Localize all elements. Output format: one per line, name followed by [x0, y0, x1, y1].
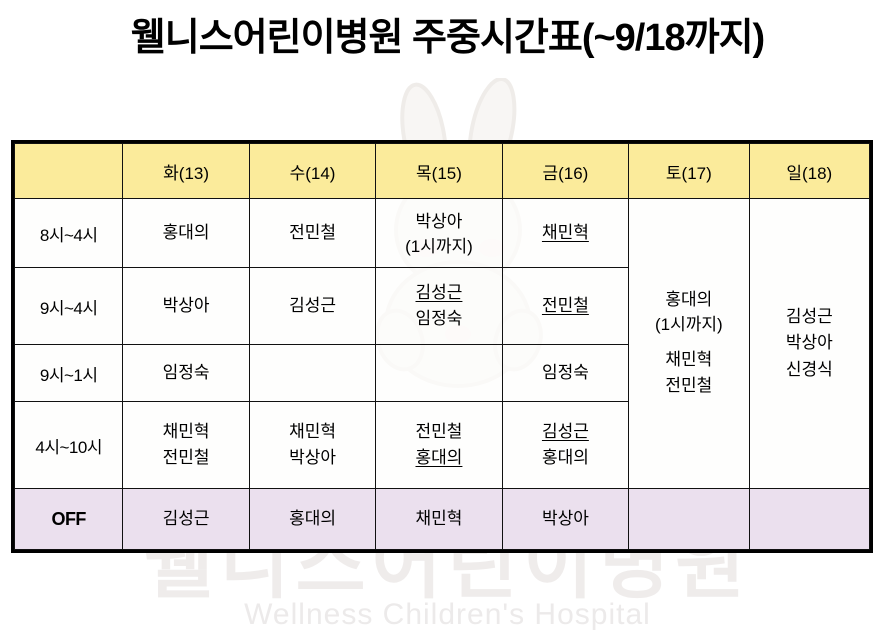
cell-sat-merged-entry: 홍대의(1시까지)	[631, 287, 746, 335]
column-header-sat: 토(17)	[629, 144, 749, 199]
cell-thu-1-entry: 박상아(1시까지)	[378, 209, 499, 257]
column-header-thu: 목(15)	[376, 144, 502, 199]
time-slot-label: 8시~4시	[15, 199, 123, 268]
cell-off-sat	[629, 489, 749, 550]
time-slot-label: 4시~10시	[15, 402, 123, 489]
schedule-table-container: 화(13) 수(14) 목(15) 금(16) 토(17) 일(18) 8시~4…	[14, 143, 870, 550]
cell-fri-3: 임정숙	[502, 345, 628, 402]
time-slot-label: 9시~1시	[15, 345, 123, 402]
cell-thu-4-entry: 홍대의	[378, 445, 499, 471]
cell-wed-4-entry: 채민혁	[252, 419, 373, 445]
entry-spacer	[631, 335, 746, 347]
cell-sat-merged: 홍대의(1시까지)채민혁전민철	[629, 199, 749, 489]
cell-off-fri: 박상아	[502, 489, 628, 550]
cell-wed-1-entry: 전민철	[252, 220, 373, 246]
cell-fri-1: 채민혁	[502, 199, 628, 268]
cell-off-thu-entry: 채민혁	[378, 506, 499, 532]
cell-thu-2-entry: 김성근	[378, 280, 499, 306]
cell-fri-4-entry: 김성근	[505, 419, 626, 445]
cell-off-tue-entry: 김성근	[125, 506, 246, 532]
cell-tue-3: 임정숙	[123, 345, 249, 402]
cell-wed-2: 김성근	[249, 268, 375, 345]
cell-wed-3	[249, 345, 375, 402]
cell-thu-4-entry: 전민철	[378, 419, 499, 445]
header-corner	[15, 144, 123, 199]
cell-tue-4: 채민혁전민철	[123, 402, 249, 489]
cell-off-fri-entry: 박상아	[505, 506, 626, 532]
cell-fri-1-entry: 채민혁	[505, 220, 626, 246]
cell-sun-merged: 김성근박상아신경식	[749, 199, 869, 489]
cell-wed-4: 채민혁박상아	[249, 402, 375, 489]
cell-tue-1-entry: 홍대의	[125, 220, 246, 246]
cell-thu-3	[376, 345, 502, 402]
cell-sun-merged-entry: 김성근	[752, 304, 867, 330]
cell-off-wed-entry: 홍대의	[252, 506, 373, 532]
cell-wed-4-entry: 박상아	[252, 445, 373, 471]
time-slot-label: 9시~4시	[15, 268, 123, 345]
column-header-wed: 수(14)	[249, 144, 375, 199]
cell-wed-2-entry: 김성근	[252, 293, 373, 319]
cell-off-tue: 김성근	[123, 489, 249, 550]
cell-off-sun	[749, 489, 869, 550]
cell-off-wed: 홍대의	[249, 489, 375, 550]
cell-fri-4: 김성근홍대의	[502, 402, 628, 489]
cell-tue-3-entry: 임정숙	[125, 360, 246, 386]
cell-sat-merged-entry-note: (1시까지)	[631, 314, 746, 335]
cell-tue-4-entry: 채민혁	[125, 419, 246, 445]
cell-thu-1-entry-note: (1시까지)	[378, 236, 499, 257]
cell-tue-2: 박상아	[123, 268, 249, 345]
table-row-off: OFF김성근홍대의채민혁박상아	[15, 489, 870, 550]
column-header-tue: 화(13)	[123, 144, 249, 199]
cell-fri-3-entry: 임정숙	[505, 360, 626, 386]
cell-fri-2: 전민철	[502, 268, 628, 345]
page-title: 웰니스어린이병원 주중시간표(~9/18까지)	[0, 6, 895, 61]
cell-sun-merged-entry: 박상아	[752, 330, 867, 356]
cell-thu-2-entry: 임정숙	[378, 306, 499, 332]
brand-watermark-english: Wellness Children's Hospital	[0, 598, 895, 632]
column-header-sun: 일(18)	[749, 144, 869, 199]
cell-wed-1: 전민철	[249, 199, 375, 268]
column-header-fri: 금(16)	[502, 144, 628, 199]
cell-sun-merged-entry: 신경식	[752, 357, 867, 383]
cell-thu-1: 박상아(1시까지)	[376, 199, 502, 268]
cell-tue-2-entry: 박상아	[125, 293, 246, 319]
cell-off-thu: 채민혁	[376, 489, 502, 550]
off-row-label: OFF	[15, 489, 123, 550]
table-header-row: 화(13) 수(14) 목(15) 금(16) 토(17) 일(18)	[15, 144, 870, 199]
cell-thu-4: 전민철홍대의	[376, 402, 502, 489]
cell-fri-4-entry: 홍대의	[505, 445, 626, 471]
cell-tue-4-entry: 전민철	[125, 445, 246, 471]
cell-fri-2-entry: 전민철	[505, 293, 626, 319]
table-row: 8시~4시홍대의전민철박상아(1시까지)채민혁홍대의(1시까지)채민혁전민철김성…	[15, 199, 870, 268]
cell-tue-1: 홍대의	[123, 199, 249, 268]
schedule-table: 화(13) 수(14) 목(15) 금(16) 토(17) 일(18) 8시~4…	[14, 143, 870, 550]
cell-thu-2: 김성근임정숙	[376, 268, 502, 345]
cell-sat-merged-entry: 전민철	[631, 373, 746, 399]
cell-sat-merged-entry: 채민혁	[631, 347, 746, 373]
schedule-body: 8시~4시홍대의전민철박상아(1시까지)채민혁홍대의(1시까지)채민혁전민철김성…	[15, 199, 870, 550]
